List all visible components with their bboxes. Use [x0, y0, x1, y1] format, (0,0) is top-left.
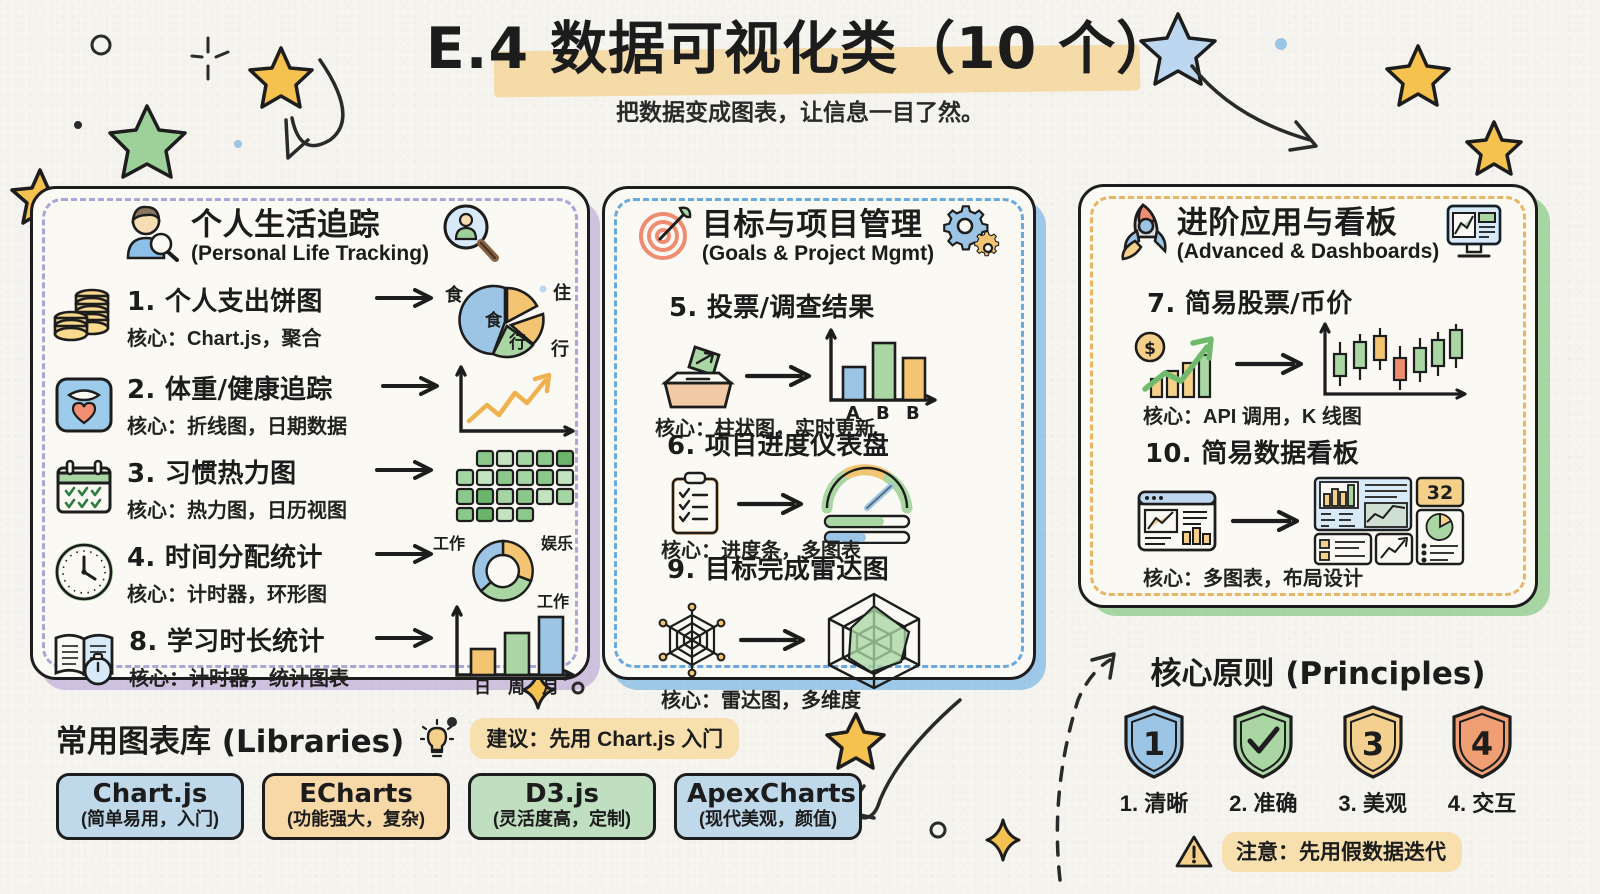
dashboard-grid: 32: [1311, 472, 1467, 570]
list-item: 5. 投票/调查结果 A B: [627, 287, 1019, 441]
list-item: 8. 学习时长统计 核心：计时器，统计图表 日 周 月: [51, 621, 575, 691]
radar-chart: [815, 588, 933, 692]
heatmap: [449, 447, 575, 523]
item-title: 9. 目标完成雷达图: [667, 549, 1019, 586]
principles-section: 核心原则 (Principles) 1 1. 清晰 2. 准确 3: [1098, 648, 1538, 872]
svg-text:食: 食: [485, 310, 503, 331]
item-title: 4. 时间分配统计: [127, 537, 327, 574]
panel-2-title: 目标与项目管理: [702, 199, 934, 244]
item-core: 核心：折线图，日期数据: [127, 410, 347, 439]
libraries-section: 常用图表库 (Libraries) 建议：先用 Chart.js 入门 Char…: [56, 716, 876, 840]
line-chart: [449, 365, 579, 443]
clipboard-check-icon: [659, 471, 731, 537]
arrow-right-icon: [737, 492, 807, 516]
bar-chart: 日 周 月: [443, 601, 583, 697]
target-arrow-icon: [636, 204, 696, 262]
arrow-right-icon: [375, 543, 437, 565]
item-title: 2. 体重/健康追踪: [127, 369, 347, 406]
principle-item: 2. 准确: [1213, 703, 1313, 818]
coin-growth-icon: $: [1129, 327, 1229, 401]
library-chip-desc: (简单易用，入门): [69, 809, 231, 830]
gears-icon: [940, 204, 1002, 262]
shield-1-icon: 1: [1120, 703, 1188, 781]
svg-text:4: 4: [1471, 725, 1493, 763]
svg-text:B: B: [906, 403, 920, 424]
item-title: 3. 习惯热力图: [127, 453, 347, 490]
spiderweb-icon: [651, 601, 733, 679]
svg-text:日: 日: [474, 678, 491, 697]
list-item: 1. 个人支出饼图 核心：Chart.js，聚合 食 住 行 食 行: [51, 281, 575, 351]
clock-icon: [51, 541, 117, 603]
item-core: 核心：热力图，日历视图: [127, 494, 347, 523]
shield-4-icon: 4: [1448, 703, 1516, 781]
pie-chart: 食 住 行 食 行: [441, 275, 577, 371]
gauge-progress: [813, 464, 933, 544]
item-title: 10. 简易数据看板: [1145, 433, 1523, 470]
svg-text:住: 住: [553, 282, 571, 304]
panel-1-title: 个人生活追踪: [191, 199, 429, 244]
panel-2-header: 目标与项目管理 (Goals & Project Mgmt): [605, 189, 1033, 266]
arrow-right-icon: [375, 459, 437, 481]
item-core: 核心：雷达图，多维度: [661, 684, 1019, 713]
principle-label: 2. 准确: [1213, 786, 1313, 818]
list-item: 7. 简易股票/币价 $: [1107, 283, 1523, 429]
arrow-right-icon: [381, 375, 443, 397]
ballot-box-icon: [655, 341, 741, 411]
person-search-icon: [119, 204, 181, 262]
panel-personal-life-tracking: 个人生活追踪 (Personal Life Tracking) 1. 个人支出饼: [30, 186, 590, 680]
panel-3-subtitle: (Advanced & Dashboards): [1177, 240, 1440, 264]
libraries-heading: 常用图表库 (Libraries): [56, 716, 404, 761]
item-title: 8. 学习时长统计: [129, 621, 349, 658]
candlestick-chart: [1313, 320, 1471, 408]
item-core: 核心：计时器，统计图表: [129, 662, 349, 691]
library-chip-name: ApexCharts: [687, 781, 849, 808]
library-chip-name: ECharts: [275, 781, 437, 808]
book-timer-icon: [51, 626, 121, 686]
arrow-right-icon: [375, 627, 437, 649]
principle-label: 4. 交互: [1432, 786, 1532, 818]
item-title: 1. 个人支出饼图: [127, 281, 323, 318]
warning-icon: [1174, 834, 1214, 870]
arrow-right-icon: [1231, 509, 1303, 533]
arrow-right-icon: [739, 628, 809, 652]
svg-text:行: 行: [550, 338, 569, 360]
vote-bar-chart: A B B: [819, 326, 943, 426]
panel-2-subtitle: (Goals & Project Mgmt): [702, 242, 934, 266]
library-chip-name: Chart.js: [69, 781, 231, 808]
coins-icon: [51, 285, 121, 347]
item-core: 核心：计时器，环形图: [127, 578, 327, 607]
svg-text:食: 食: [444, 284, 464, 306]
svg-text:月: 月: [541, 678, 559, 697]
svg-text:周: 周: [508, 678, 525, 697]
library-chip[interactable]: ApexCharts (现代美观，颜值): [674, 773, 862, 840]
svg-text:娱乐: 娱乐: [541, 534, 573, 553]
principles-heading: 核心原则 (Principles): [1098, 648, 1538, 693]
calendar-check-icon: [51, 458, 117, 518]
list-item: 2. 体重/健康追踪 核心：折线图，日期数据: [51, 369, 575, 439]
dashboard-badge-value: 32: [1427, 482, 1453, 504]
list-item: 3. 习惯热力图 核心：热力图，日历视图: [51, 453, 575, 523]
panel-goals-project-mgmt: 目标与项目管理 (Goals & Project Mgmt) 5. 投票/调查结…: [602, 186, 1036, 680]
list-item: 6. 项目进度仪表盘: [627, 425, 1019, 563]
shield-check-icon: [1229, 703, 1297, 781]
note-pill: 注意：先用假数据迭代: [1222, 832, 1462, 872]
browser-dashboard-icon: [1131, 486, 1223, 556]
scale-heart-icon: [51, 373, 117, 435]
principle-label: 3. 美观: [1323, 786, 1423, 818]
item-title: 6. 项目进度仪表盘: [667, 425, 1019, 462]
panel-3-title: 进阶应用与看板: [1177, 197, 1440, 242]
arrow-right-icon: [745, 364, 815, 388]
library-chip[interactable]: ECharts (功能强大，复杂): [262, 773, 450, 840]
arrow-right-icon: [375, 287, 437, 309]
svg-text:$: $: [1144, 339, 1156, 359]
principle-label: 1. 清晰: [1104, 786, 1204, 818]
lightbulb-icon: [418, 718, 456, 760]
shield-3-icon: 3: [1339, 703, 1407, 781]
library-chip-name: D3.js: [481, 781, 643, 808]
list-item: 4. 时间分配统计 核心：计时器，环形图 工作 娱乐 工作: [51, 537, 575, 607]
library-chip-desc: (现代美观，颜值): [687, 809, 849, 830]
page-title: E.4 数据可视化类（10 个）: [426, 14, 1174, 85]
arrow-right-icon: [1235, 352, 1307, 376]
library-chip[interactable]: D3.js (灵活度高，定制): [468, 773, 656, 840]
svg-text:1: 1: [1143, 725, 1165, 763]
principle-item: 1 1. 清晰: [1104, 703, 1204, 818]
item-title: 7. 简易股票/币价: [1147, 283, 1523, 320]
page-subtitle: 把数据变成图表，让信息一目了然。: [0, 93, 1600, 127]
list-item: 10. 简易数据看板: [1107, 433, 1523, 591]
principle-item: 3 3. 美观: [1323, 703, 1423, 818]
panel-advanced-dashboards: 进阶应用与看板 (Advanced & Dashboards) 7. 简易股票/…: [1078, 184, 1538, 608]
library-chip[interactable]: Chart.js (简单易用，入门): [56, 773, 244, 840]
page-header: E.4 数据可视化类（10 个） 把数据变成图表，让信息一目了然。: [0, 14, 1600, 127]
item-title: 5. 投票/调查结果: [669, 287, 1019, 324]
svg-text:3: 3: [1362, 725, 1384, 763]
monitor-chart-icon: [1443, 201, 1505, 261]
list-item: 9. 目标完成雷达图: [627, 549, 1019, 713]
library-chip-desc: (功能强大，复杂): [275, 809, 437, 830]
tip-pill: 建议：先用 Chart.js 入门: [470, 718, 739, 759]
svg-text:工作: 工作: [433, 534, 465, 553]
panel-1-header: 个人生活追踪 (Personal Life Tracking): [33, 189, 587, 266]
rocket-icon: [1111, 201, 1173, 261]
svg-text:行: 行: [508, 332, 526, 353]
principle-item: 4 4. 交互: [1432, 703, 1532, 818]
magnifier-person-icon: [439, 202, 501, 264]
item-core: 核心：Chart.js，聚合: [127, 322, 323, 351]
panel-3-header: 进阶应用与看板 (Advanced & Dashboards): [1081, 187, 1535, 264]
panel-1-subtitle: (Personal Life Tracking): [191, 242, 429, 266]
svg-text:B: B: [876, 403, 890, 424]
library-chip-desc: (灵活度高，定制): [481, 809, 643, 830]
